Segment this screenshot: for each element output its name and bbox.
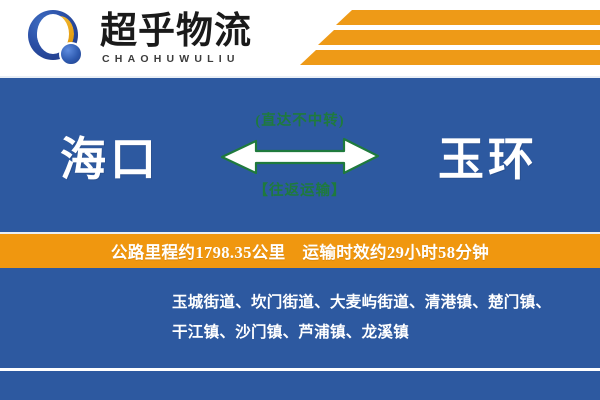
banner-footer	[0, 368, 600, 400]
route-panel: 海口 (直达不中转) 【往返运输】 玉环	[0, 76, 600, 234]
company-name-cn: 超乎物流	[100, 13, 252, 51]
company-name-pinyin: CHAOHUWULIU	[102, 53, 252, 65]
round-trip-note: 【往返运输】	[254, 184, 347, 199]
logo-small-circle	[59, 42, 83, 66]
header-stripe-2	[318, 30, 600, 45]
header-stripe-3	[300, 50, 600, 65]
distance-and-duration-text: 公路里程约1798.35公里 运输时效约29小时58分钟	[111, 239, 489, 263]
service-areas-line-2: 干江镇、沙门镇、芦浦镇、龙溪镇	[172, 318, 576, 348]
logo-text-block: 超乎物流 CHAOHUWULIU	[100, 13, 252, 65]
origin-city: 海口	[60, 123, 160, 189]
header-stripes-decoration	[270, 6, 600, 70]
chaohu-logistics-logo-mark	[26, 8, 90, 70]
logistics-route-banner: 超乎物流 CHAOHUWULIU 海口 (直达不中转) 【往返运输】 玉环 公路…	[0, 0, 600, 400]
company-logo[interactable]: 超乎物流 CHAOHUWULIU	[26, 8, 252, 70]
route-info-bar: 公路里程约1798.35公里 运输时效约29小时58分钟	[0, 232, 600, 270]
route-arrow-block: (直达不中转) 【往返运输】	[195, 114, 405, 198]
direct-route-note: (直达不中转)	[255, 114, 344, 129]
service-areas-text: 玉城街道、坎门街道、大麦屿街道、清港镇、楚门镇、 干江镇、沙门镇、芦浦镇、龙溪镇	[172, 288, 576, 348]
service-areas-panel: 玉城街道、坎门街道、大麦屿街道、清港镇、楚门镇、 干江镇、沙门镇、芦浦镇、龙溪镇	[0, 268, 600, 368]
service-areas-line-1: 玉城街道、坎门街道、大麦屿街道、清港镇、楚门镇、	[172, 288, 576, 318]
destination-city: 玉环	[438, 123, 538, 189]
double-headed-arrow-icon	[220, 133, 380, 179]
header-stripe-1	[336, 10, 600, 25]
banner-header: 超乎物流 CHAOHUWULIU	[0, 0, 600, 76]
